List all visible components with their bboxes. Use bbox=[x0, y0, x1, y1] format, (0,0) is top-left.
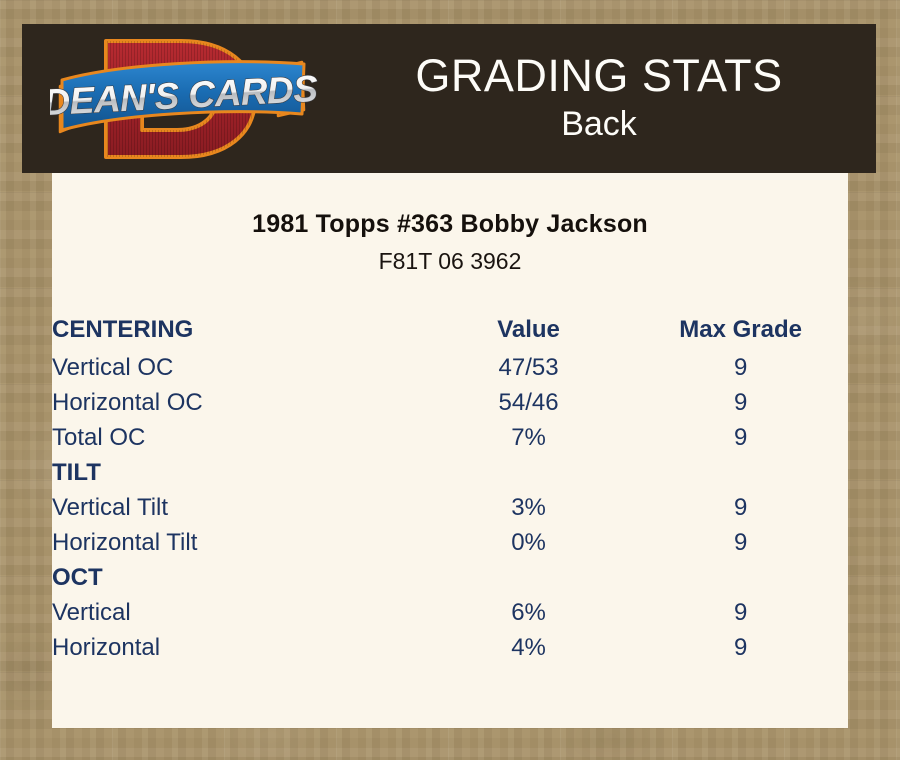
section-header-tilt: TILT bbox=[52, 455, 424, 490]
card-serial-number: F81T 06 3962 bbox=[52, 240, 848, 276]
stat-label: Horizontal bbox=[52, 630, 424, 665]
table-row: Horizontal 4% 9 bbox=[52, 630, 848, 665]
stat-max-grade: 9 bbox=[633, 630, 848, 665]
stat-value: 6% bbox=[424, 595, 633, 630]
stat-value: 7% bbox=[424, 420, 633, 455]
stat-label: Horizontal OC bbox=[52, 385, 424, 420]
header-title-block: GRADING STATS Back bbox=[322, 24, 876, 173]
section-spacer-value bbox=[424, 455, 633, 490]
table-row: Total OC 7% 9 bbox=[52, 420, 848, 455]
table-row: Horizontal Tilt 0% 9 bbox=[52, 525, 848, 560]
section-spacer-value bbox=[424, 560, 633, 595]
stat-label: Horizontal Tilt bbox=[52, 525, 424, 560]
grading-stats-table: CENTERING Value Max Grade Vertical OC 47… bbox=[52, 310, 848, 665]
stat-value: 4% bbox=[424, 630, 633, 665]
stat-value: 3% bbox=[424, 490, 633, 525]
column-header-value: Value bbox=[424, 310, 633, 350]
header-bar: DEAN'S CARDS GRADING STATS Back bbox=[22, 24, 876, 173]
stat-max-grade: 9 bbox=[633, 420, 848, 455]
column-header-max-grade: Max Grade bbox=[633, 310, 848, 350]
card-title: 1981 Topps #363 Bobby Jackson bbox=[52, 208, 848, 240]
section-header-row: TILT bbox=[52, 455, 848, 490]
section-spacer-grade bbox=[633, 455, 848, 490]
stat-max-grade: 9 bbox=[633, 525, 848, 560]
stat-label: Vertical bbox=[52, 595, 424, 630]
page-subtitle: Back bbox=[561, 103, 637, 145]
deans-cards-logo[interactable]: DEAN'S CARDS bbox=[50, 28, 318, 170]
stat-value: 54/46 bbox=[424, 385, 633, 420]
stat-label: Total OC bbox=[52, 420, 424, 455]
stat-label: Vertical Tilt bbox=[52, 490, 424, 525]
content-panel: 1981 Topps #363 Bobby Jackson F81T 06 39… bbox=[52, 173, 848, 728]
section-header-row: OCT bbox=[52, 560, 848, 595]
stat-value: 47/53 bbox=[424, 350, 633, 385]
section-header-oct: OCT bbox=[52, 560, 424, 595]
card-info: 1981 Topps #363 Bobby Jackson F81T 06 39… bbox=[52, 173, 848, 276]
table-row: Horizontal OC 54/46 9 bbox=[52, 385, 848, 420]
table-header-row: CENTERING Value Max Grade bbox=[52, 310, 848, 350]
stat-max-grade: 9 bbox=[633, 595, 848, 630]
section-header-centering: CENTERING bbox=[52, 310, 424, 350]
stat-max-grade: 9 bbox=[633, 490, 848, 525]
stat-label: Vertical OC bbox=[52, 350, 424, 385]
section-spacer-grade bbox=[633, 560, 848, 595]
page-title: GRADING STATS bbox=[415, 49, 782, 103]
stat-max-grade: 9 bbox=[633, 385, 848, 420]
table-row: Vertical 6% 9 bbox=[52, 595, 848, 630]
table-row: Vertical OC 47/53 9 bbox=[52, 350, 848, 385]
stat-max-grade: 9 bbox=[633, 350, 848, 385]
table-row: Vertical Tilt 3% 9 bbox=[52, 490, 848, 525]
stat-value: 0% bbox=[424, 525, 633, 560]
